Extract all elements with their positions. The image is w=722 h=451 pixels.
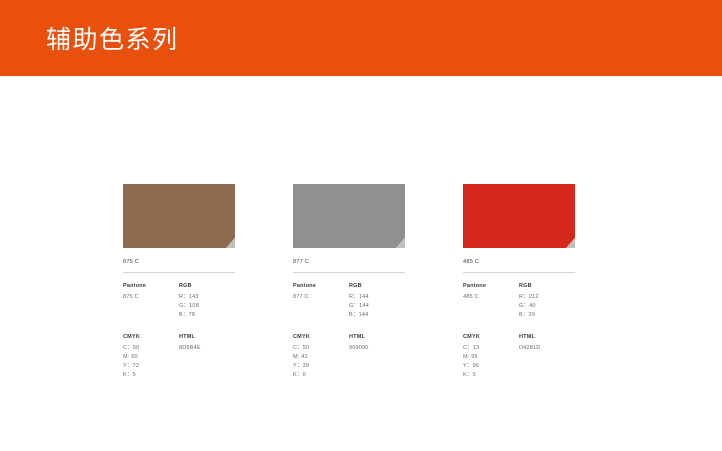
swatch-name: 485 C xyxy=(463,258,575,266)
cmyk-label: CMYK xyxy=(463,333,519,342)
html-label: HTML xyxy=(349,333,405,342)
rgb-column: RGB R：212 G：40 B：29 xyxy=(519,282,575,320)
rgb-column: RGB R：143 G：108 B：78 xyxy=(179,282,235,320)
rgb-label: RGB xyxy=(519,282,575,291)
swatch-name: 875 C xyxy=(123,258,235,266)
cmyk-label: CMYK xyxy=(123,333,179,342)
pantone-rgb-block: Pantone 485 C RGB R：212 G：40 B：29 xyxy=(463,282,575,320)
color-swatch-panel[interactable]: 877 C Pantone 877 C RGB R：144 G：144 B：14… xyxy=(293,184,405,380)
html-value: 909090 xyxy=(349,344,405,353)
rgb-r-value: R：144 xyxy=(349,293,405,302)
color-swatch-list: 875 C Pantone 875 C RGB R：143 G：108 B：78… xyxy=(123,184,603,380)
cmyk-column: CMYK C：50 M: 60 Y：72 K：5 xyxy=(123,333,179,380)
pantone-value: 485 C xyxy=(463,293,519,302)
rgb-b-value: B：29 xyxy=(519,311,575,320)
pantone-column: Pantone 875 C xyxy=(123,282,179,320)
cmyk-m-value: M: 60 xyxy=(123,353,179,362)
color-swatch-panel[interactable]: 485 C Pantone 485 C RGB R：212 G：40 B：29 … xyxy=(463,184,575,380)
cmyk-m-value: M: 41 xyxy=(293,353,349,362)
brand-guideline-page: 辅助色系列 875 C Pantone 875 C RGB R：143 G：10 xyxy=(0,0,722,451)
cmyk-c-value: C：13 xyxy=(463,344,519,353)
color-chip-fill xyxy=(463,184,575,248)
cmyk-k-value: K：0 xyxy=(293,371,349,380)
swatch-name: 877 C xyxy=(293,258,405,266)
pantone-rgb-block: Pantone 877 C RGB R：144 G：144 B：144 xyxy=(293,282,405,320)
page-title: 辅助色系列 xyxy=(46,25,179,55)
cmyk-column: CMYK C：50 M: 41 Y：39 K：0 xyxy=(293,333,349,380)
rgb-r-value: R：212 xyxy=(519,293,575,302)
color-chip-fill xyxy=(293,184,405,248)
pantone-label: Pantone xyxy=(293,282,349,291)
cmyk-k-value: K：0 xyxy=(463,371,519,380)
rgb-r-value: R：143 xyxy=(179,293,235,302)
pantone-label: Pantone xyxy=(463,282,519,291)
color-chip-877c[interactable] xyxy=(293,184,405,248)
cmyk-column: CMYK C：13 M: 95 Y：96 K：0 xyxy=(463,333,519,380)
rgb-g-value: G：40 xyxy=(519,302,575,311)
cmyk-y-value: Y：96 xyxy=(463,362,519,371)
pantone-rgb-block: Pantone 875 C RGB R：143 G：108 B：78 xyxy=(123,282,235,320)
rgb-column: RGB R：144 G：144 B：144 xyxy=(349,282,405,320)
pantone-value: 877 C xyxy=(293,293,349,302)
pantone-column: Pantone 485 C xyxy=(463,282,519,320)
rgb-label: RGB xyxy=(349,282,405,291)
html-value: 8D6B4E xyxy=(179,344,235,353)
cmyk-y-value: Y：39 xyxy=(293,362,349,371)
rgb-g-value: G：108 xyxy=(179,302,235,311)
rgb-b-value: B：144 xyxy=(349,311,405,320)
divider xyxy=(123,272,235,273)
html-label: HTML xyxy=(519,333,575,342)
rgb-b-value: B：78 xyxy=(179,311,235,320)
cmyk-html-block: CMYK C：13 M: 95 Y：96 K：0 HTML D4281D xyxy=(463,333,575,380)
cmyk-m-value: M: 95 xyxy=(463,353,519,362)
color-chip-fill xyxy=(123,184,235,248)
cmyk-c-value: C：50 xyxy=(123,344,179,353)
cmyk-y-value: Y：72 xyxy=(123,362,179,371)
color-chip-875c[interactable] xyxy=(123,184,235,248)
cmyk-c-value: C：50 xyxy=(293,344,349,353)
html-column: HTML 909090 xyxy=(349,333,405,380)
cmyk-html-block: CMYK C：50 M: 60 Y：72 K：5 HTML 8D6B4E xyxy=(123,333,235,380)
html-column: HTML 8D6B4E xyxy=(179,333,235,380)
html-column: HTML D4281D xyxy=(519,333,575,380)
pantone-label: Pantone xyxy=(123,282,179,291)
cmyk-k-value: K：5 xyxy=(123,371,179,380)
html-value: D4281D xyxy=(519,344,575,353)
html-label: HTML xyxy=(179,333,235,342)
divider xyxy=(463,272,575,273)
pantone-value: 875 C xyxy=(123,293,179,302)
cmyk-label: CMYK xyxy=(293,333,349,342)
page-header-banner: 辅助色系列 xyxy=(0,0,722,76)
divider xyxy=(293,272,405,273)
rgb-label: RGB xyxy=(179,282,235,291)
color-swatch-panel[interactable]: 875 C Pantone 875 C RGB R：143 G：108 B：78… xyxy=(123,184,235,380)
rgb-g-value: G：144 xyxy=(349,302,405,311)
cmyk-html-block: CMYK C：50 M: 41 Y：39 K：0 HTML 909090 xyxy=(293,333,405,380)
pantone-column: Pantone 877 C xyxy=(293,282,349,320)
color-chip-485c[interactable] xyxy=(463,184,575,248)
